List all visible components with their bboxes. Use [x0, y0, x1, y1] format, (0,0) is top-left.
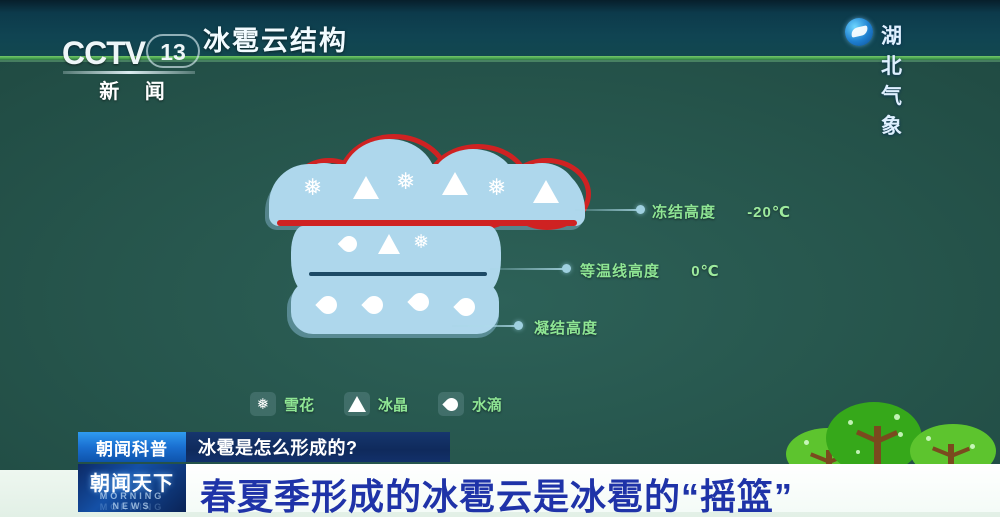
ice-crystal-triangle-icon [442, 172, 468, 195]
legend-label-water-droplet: 水滴 [472, 394, 502, 415]
channel-number: 13 [148, 39, 198, 66]
callout-label: 等温线高度 [580, 263, 660, 280]
callout-leader-dot-2 [562, 264, 571, 273]
legend-label-ice-crystal: 冰晶 [378, 394, 408, 415]
tree-sparkle [894, 414, 900, 420]
callout-leader-line-3 [452, 325, 520, 327]
broadcast-screen: 冰雹云结构 CCTV 13 新 闻 湖北气象 ❅ [0, 0, 1000, 517]
ice-crystal-triangle-icon [378, 234, 400, 254]
page-title: 冰雹云结构 [203, 19, 348, 58]
cctv-sublabel: 新 闻 [82, 75, 192, 104]
water-droplet-shape [442, 395, 460, 413]
legend-item-ice-crystal: 冰晶 [344, 392, 408, 416]
snowflake-icon: ❅ [250, 392, 276, 416]
cctv-wordmark: CCTV [62, 35, 145, 72]
topic-badge-label: 朝闻科普 [96, 435, 168, 460]
tree-sparkle [848, 420, 853, 425]
diagram-legend: ❅ 雪花 冰晶 水滴 [250, 392, 502, 416]
news-lower-third: 朝闻科普 冰雹是怎么形成的? 朝闻天下 MORNING NEWS MORNING… [0, 432, 1000, 517]
ice-crystal-triangle-icon [344, 392, 370, 416]
snowflake-icon: ❅ [396, 170, 415, 193]
headline-text: 春夏季形成的冰雹云是冰雹的“摇篮” [200, 468, 793, 517]
snowflake-icon: ❅ [413, 233, 429, 252]
topic-badge: 朝闻科普 [78, 432, 186, 462]
wind-swirl-icon [845, 18, 873, 46]
snowflake-icon: ❅ [487, 176, 506, 199]
cctv-channel-logo: CCTV 13 新 闻 [62, 35, 202, 97]
cctv-underline [63, 71, 195, 74]
callout-leader-line-1 [575, 209, 643, 211]
hubei-weather-name: 湖北气象 [881, 20, 904, 140]
isotherm-level-line [309, 272, 487, 276]
topic-question-text: 冰雹是怎么形成的? [198, 434, 358, 460]
hail-cloud-diagram: ❅ ❅ ❅ ❅ [265, 128, 595, 343]
callout-leader-dot-1 [636, 205, 645, 214]
callout-value: 0℃ [691, 263, 720, 280]
legend-item-water-droplet: 水滴 [438, 392, 502, 416]
topic-row: 朝闻科普 冰雹是怎么形成的? [78, 432, 450, 462]
legend-label-snowflake: 雪花 [284, 394, 314, 415]
ice-crystal-triangle-icon [533, 180, 559, 203]
ice-crystal-shape [348, 396, 366, 412]
callout-label: 冻结高度 [652, 204, 716, 221]
program-logo: 朝闻天下 MORNING NEWS MORNING NEWS [78, 464, 186, 512]
snowflake-icon: ❅ [303, 176, 322, 199]
legend-item-snowflake: ❅ 雪花 [250, 392, 314, 416]
topic-question-strip: 冰雹是怎么形成的? [186, 432, 450, 462]
snowflake-glyph: ❅ [257, 395, 270, 413]
callout-leader-dot-3 [514, 321, 523, 330]
freezing-level-line [277, 220, 577, 226]
water-droplet-icon [438, 392, 464, 416]
program-name-en-reflection: MORNING NEWS [78, 502, 186, 512]
ice-crystal-triangle-icon [353, 176, 379, 199]
callout-isotherm-height: 等温线高度 0℃ [580, 260, 720, 281]
callout-condensation-height: 凝结高度 [534, 317, 598, 338]
callout-value: -20℃ [747, 204, 791, 221]
channel-number-badge: 13 [146, 34, 200, 68]
callout-leader-line-2 [490, 268, 568, 270]
callout-label: 凝结高度 [534, 320, 598, 337]
callout-freezing-height: 冻结高度 -20℃ [652, 201, 791, 222]
